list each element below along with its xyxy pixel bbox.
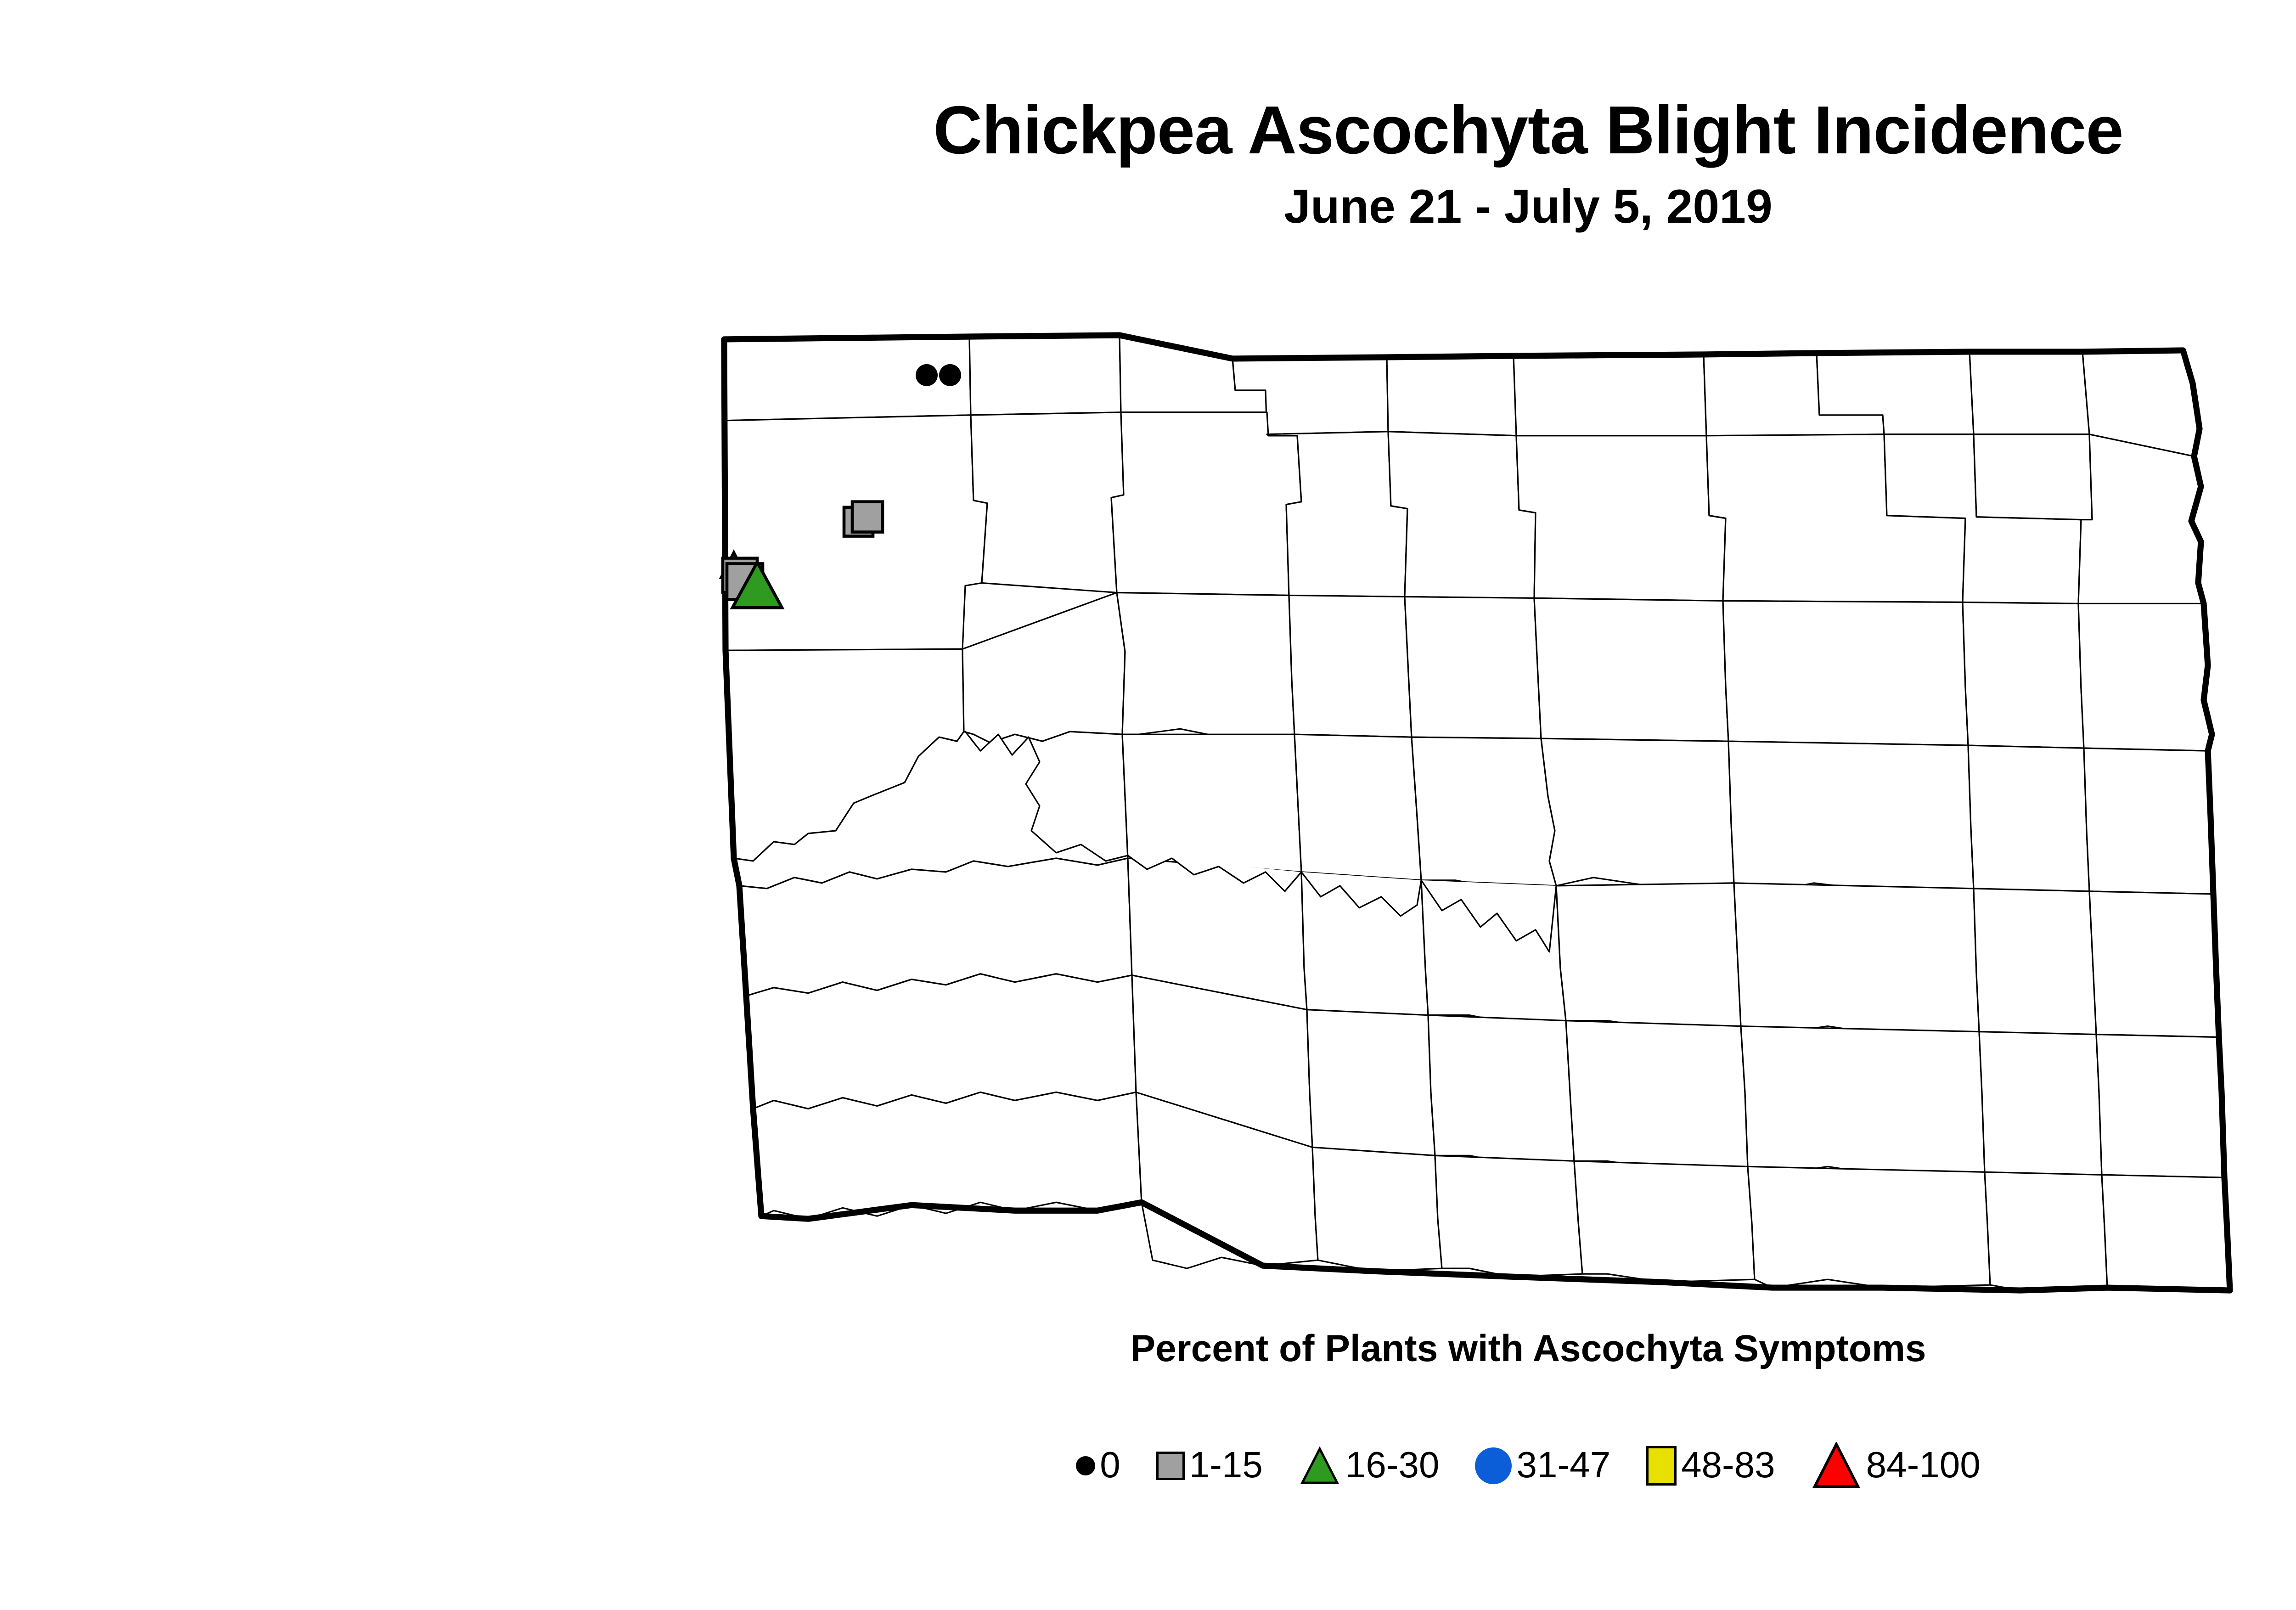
- legend-item-48-83[interactable]: 48-83: [1646, 1446, 1775, 1486]
- map-page: Chickpea Ascochyta Blight Incidence June…: [0, 0, 2296, 1610]
- legend-item-label: 16-30: [1345, 1447, 1440, 1485]
- legend-circle-blue-icon: [1475, 1447, 1512, 1484]
- legend: 0 1-15 16-30 31-47 48-83: [0, 1442, 2296, 1490]
- marker-incidence-1-15: [852, 502, 883, 532]
- county-boundaries: [724, 335, 2230, 1290]
- legend-triangle-green-icon: [1299, 1446, 1341, 1486]
- marker-incidence-0: [939, 364, 961, 386]
- title-block: Chickpea Ascochyta Blight Incidence June…: [0, 96, 2296, 231]
- legend-item-label: 0: [1100, 1447, 1120, 1485]
- legend-item-16-30[interactable]: 16-30: [1299, 1446, 1440, 1486]
- legend-dot-icon: [1076, 1456, 1095, 1475]
- north-dakota-county-map: [643, 321, 2296, 1332]
- page-subtitle: June 21 - July 5, 2019: [0, 183, 2296, 231]
- legend-square-gray-icon: [1156, 1452, 1185, 1480]
- legend-item-0[interactable]: 0: [1076, 1447, 1120, 1485]
- legend-item-label: 1-15: [1189, 1447, 1263, 1485]
- marker-incidence-0: [916, 364, 938, 386]
- legend-triangle-red-icon: [1811, 1442, 1862, 1490]
- legend-item-label: 84-100: [1866, 1447, 1981, 1485]
- legend-item-84-100[interactable]: 84-100: [1811, 1442, 1981, 1490]
- map-svg: [643, 321, 2296, 1332]
- legend-item-1-15[interactable]: 1-15: [1156, 1447, 1263, 1485]
- legend-item-label: 48-83: [1681, 1447, 1775, 1485]
- legend-square-yellow-icon: [1646, 1446, 1677, 1486]
- legend-caption: Percent of Plants with Ascochyta Symptom…: [0, 1327, 2296, 1370]
- page-title: Chickpea Ascochyta Blight Incidence: [0, 96, 2296, 164]
- legend-item-31-47[interactable]: 31-47: [1475, 1447, 1610, 1485]
- legend-item-label: 31-47: [1516, 1447, 1610, 1485]
